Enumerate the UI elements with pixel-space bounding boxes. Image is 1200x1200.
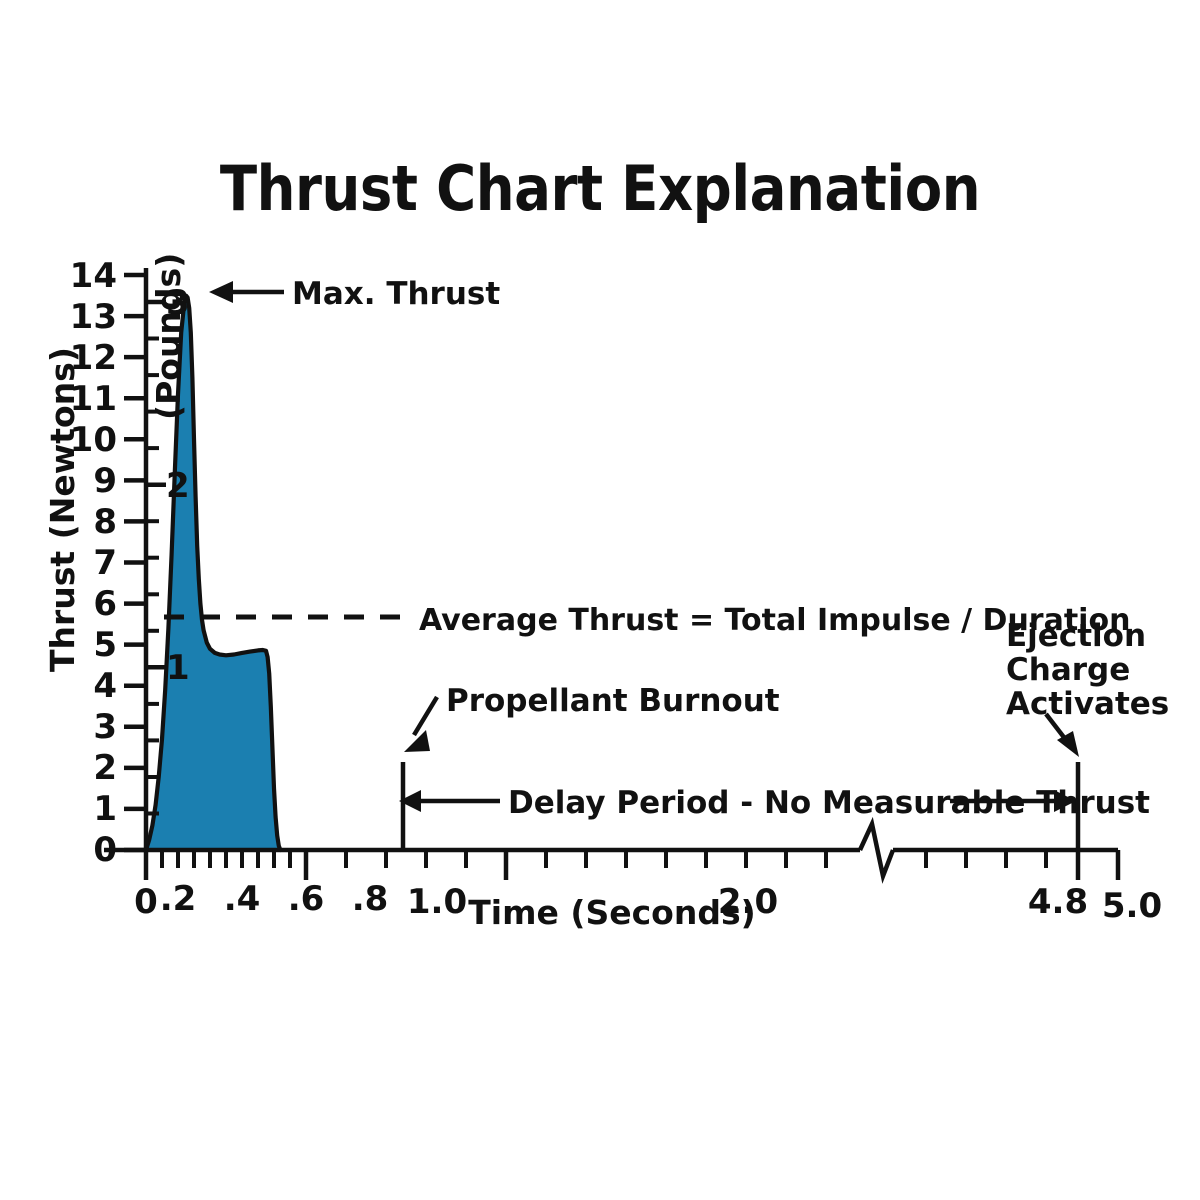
propellant-burnout-arrow-shaft <box>414 697 437 735</box>
y-axis-secondary-title: (Pounds) <box>149 253 188 420</box>
x-tick-label-p4: .4 <box>224 879 261 919</box>
x-tick-label-p6: .6 <box>288 879 325 919</box>
y-tick-label-6: 6 <box>93 584 117 624</box>
y-axis-newton-ticks <box>124 275 146 850</box>
y-tick-label-13: 13 <box>70 297 117 337</box>
x-tick-label-1: 1.0 <box>407 882 467 922</box>
max-thrust-arrow-head <box>209 281 233 303</box>
ejection-charge-label-line2: Charge <box>1006 652 1130 688</box>
y-tick-label-14: 14 <box>70 256 117 296</box>
thrust-chart-page: Thrust Chart Explanation <box>0 0 1200 1200</box>
x-tick-label-p2: .2 <box>160 879 197 919</box>
x-tick-label-p8: .8 <box>352 879 389 919</box>
thrust-chart-figure: 14 13 12 11 10 9 8 7 6 5 4 3 2 1 0 <box>0 0 1200 1200</box>
delay-period-annotation: Delay Period - No Measurable Thrust <box>399 785 1150 821</box>
y-tick-label-5: 5 <box>93 625 117 665</box>
max-thrust-label: Max. Thrust <box>292 276 500 312</box>
average-thrust-marker: Average Thrust = Total Impulse / Duratio… <box>164 603 1130 638</box>
propellant-burnout-label: Propellant Burnout <box>446 683 780 719</box>
delay-period-label: Delay Period - No Measurable Thrust <box>508 785 1150 821</box>
y-tick-label-8: 8 <box>93 502 117 542</box>
x-tick-label-0: 0 <box>134 882 158 922</box>
x-tick-label-5: 5.0 <box>1102 886 1162 926</box>
ejection-charge-label-line1: Ejection <box>1006 618 1146 654</box>
y-tick-label-9: 9 <box>93 461 117 501</box>
max-thrust-annotation: Max. Thrust <box>209 276 500 312</box>
x-axis-title: Time (Seconds) <box>468 893 755 932</box>
x-tick-label-48: 4.8 <box>1028 882 1088 922</box>
x-axis-minor-ticks <box>162 850 1046 868</box>
propellant-burnout-annotation: Propellant Burnout <box>403 683 780 850</box>
axis-break-zigzag <box>860 824 893 876</box>
y-tick-label-3: 3 <box>93 707 117 747</box>
y-pound-label-2: 2 <box>166 466 190 506</box>
y-axis-title: Thrust (Newtons) <box>43 347 82 672</box>
y-tick-label-2: 2 <box>93 748 117 788</box>
ejection-charge-label-line3: Activates <box>1006 686 1169 722</box>
y-tick-label-4: 4 <box>93 666 117 706</box>
y-pound-label-1: 1 <box>166 648 190 688</box>
y-tick-label-1: 1 <box>93 789 117 829</box>
y-tick-label-7: 7 <box>93 543 117 583</box>
